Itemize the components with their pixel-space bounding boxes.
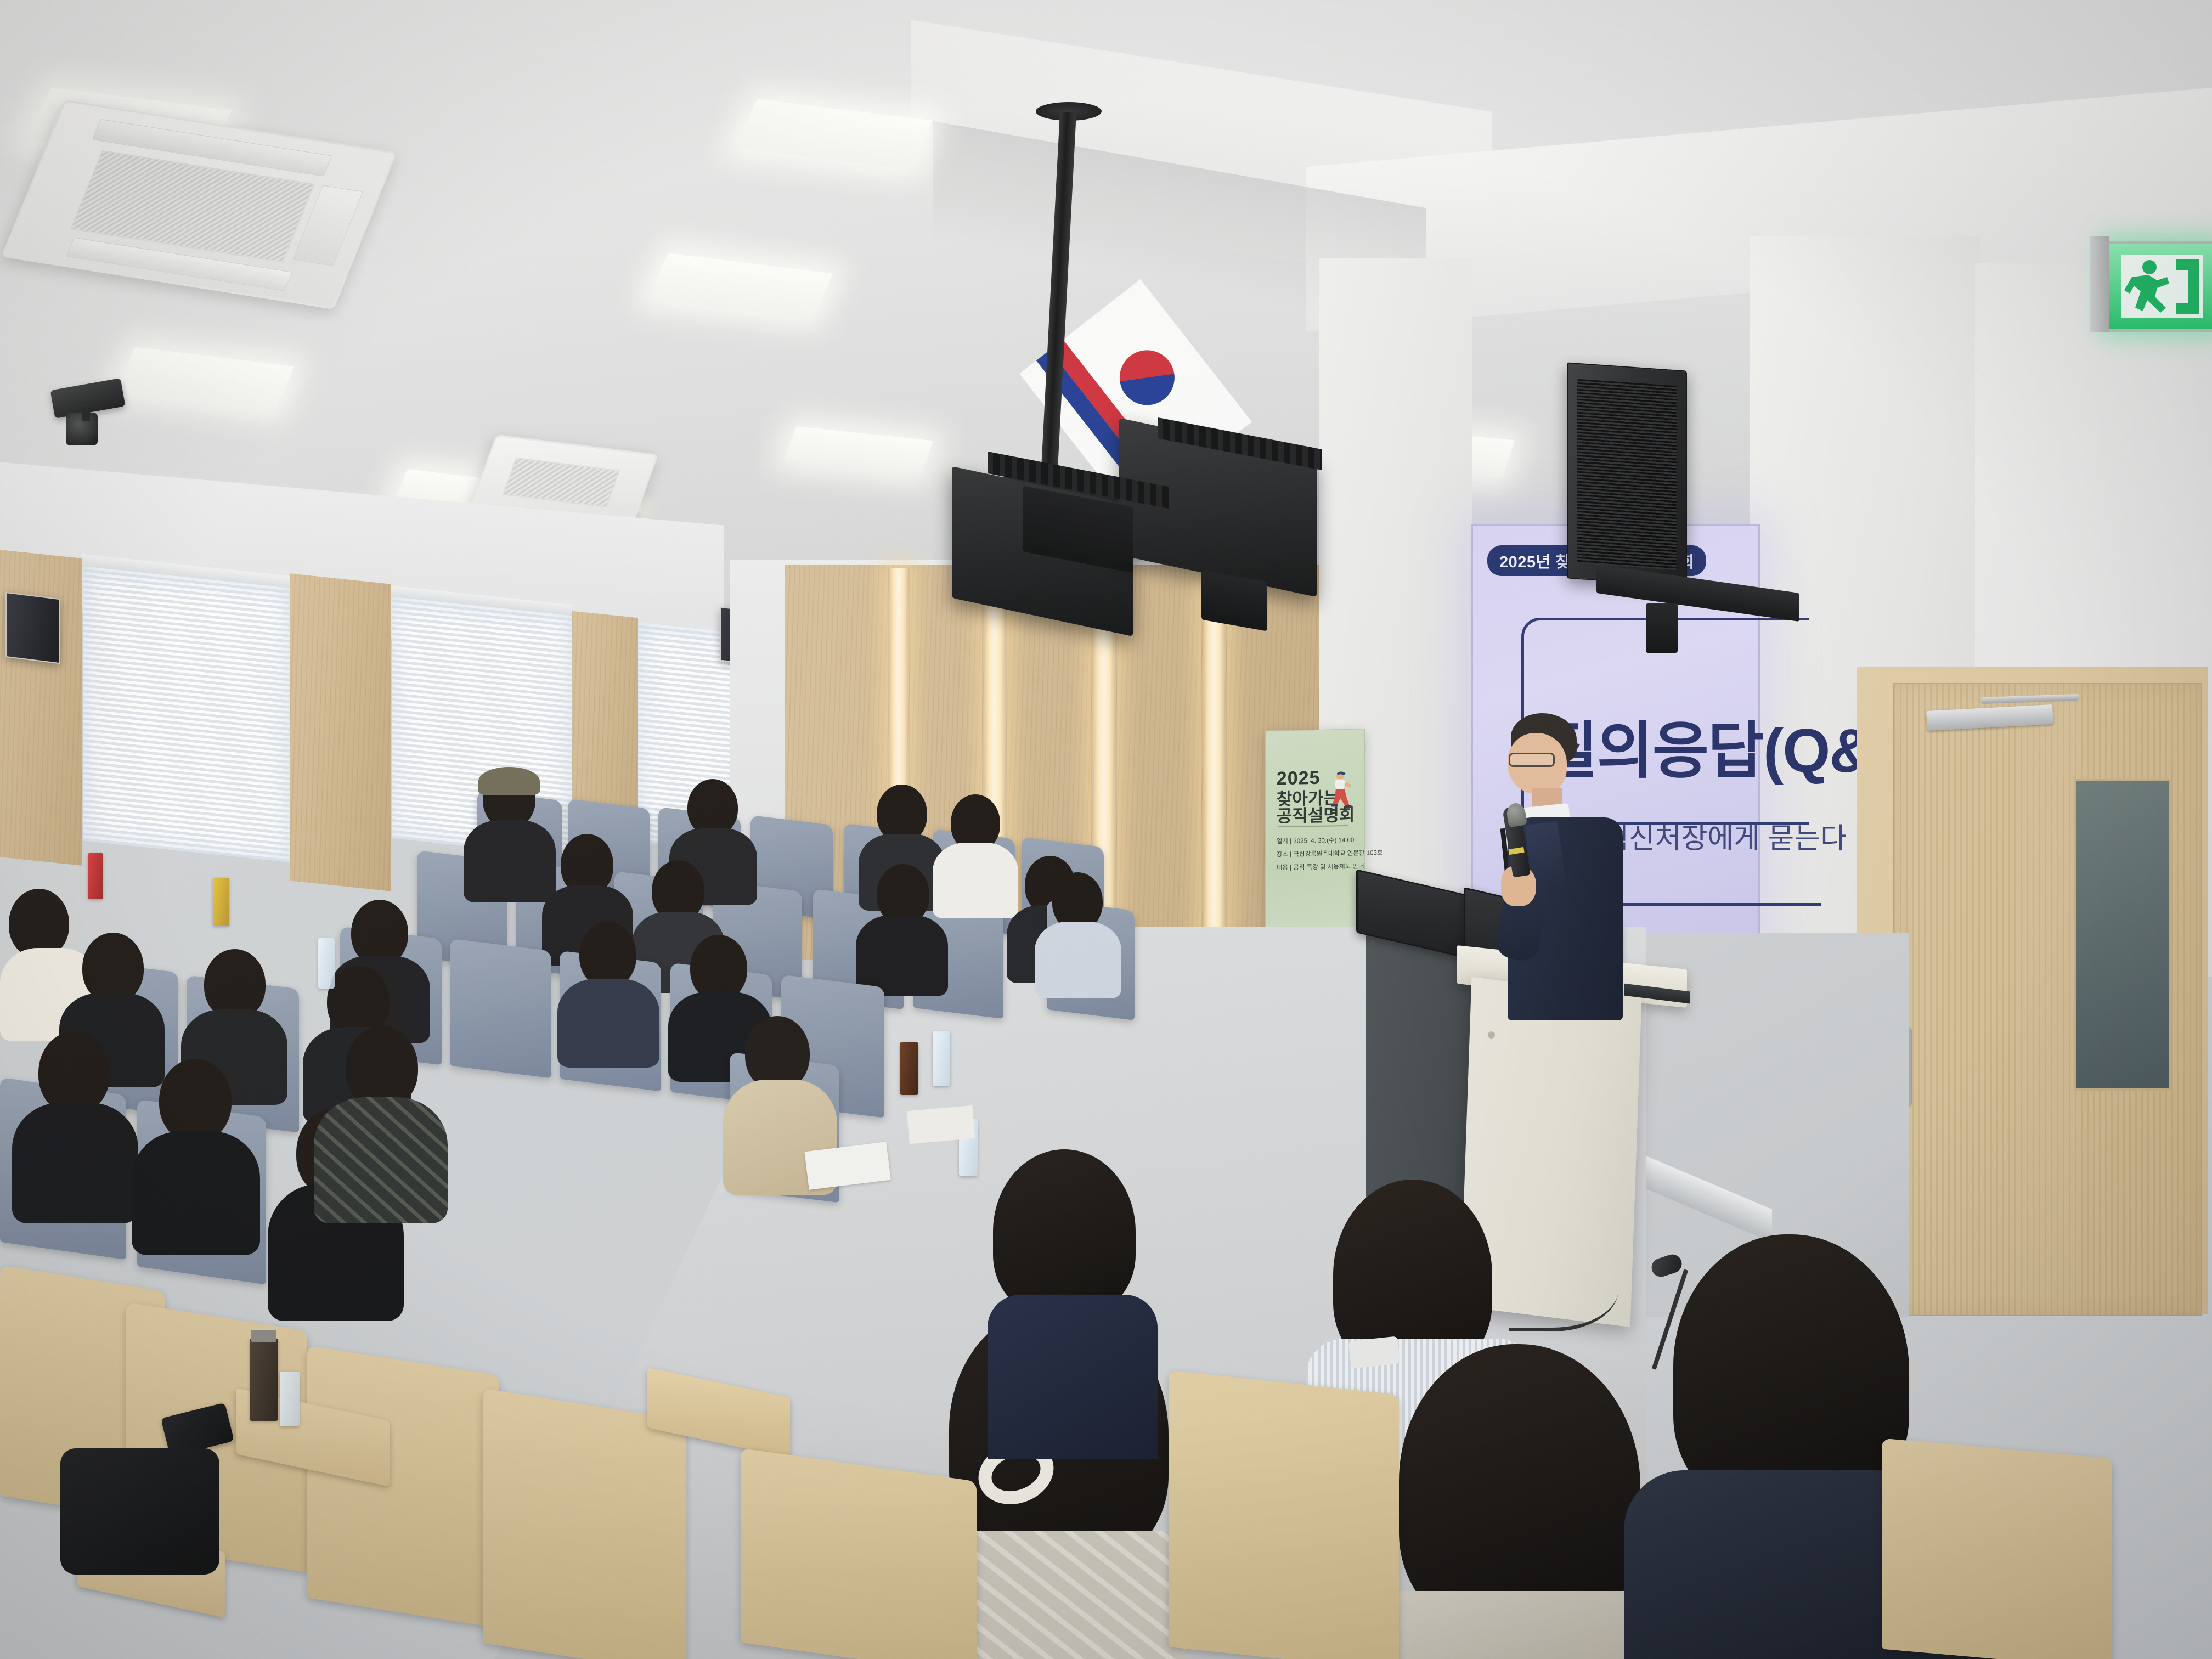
audience-head-foreground [1673, 1234, 1909, 1509]
presenter [1498, 713, 1640, 1020]
audience-head-foreground [1399, 1344, 1640, 1629]
ceiling-camera-stem [82, 407, 90, 421]
audience-torso [12, 1103, 138, 1223]
audience-torso-foreground [988, 1295, 1158, 1459]
audience-head-foreground [993, 1149, 1136, 1314]
audience-torso [464, 820, 556, 902]
speaker-rigging-clamp [1646, 603, 1678, 653]
water-bottle[interactable] [318, 938, 335, 989]
hanging-pa-speaker [1567, 362, 1687, 586]
drink-bottle[interactable] [88, 853, 103, 899]
presenter-glasses [1509, 753, 1555, 767]
banner-info-2: 내용 | 공직 특강 및 채용제도 안내 [1277, 862, 1364, 873]
seat-back[interactable] [450, 939, 551, 1079]
audience-torso [856, 915, 948, 996]
seat-back-wood[interactable] [1169, 1370, 1399, 1659]
audience-head [82, 933, 144, 1003]
running-person-icon [1324, 771, 1352, 810]
window-blinds[interactable] [83, 566, 290, 862]
audience-torso [1035, 922, 1121, 998]
ceiling-camera-lens-icon [66, 413, 98, 445]
seat-back-wood[interactable] [1882, 1438, 2112, 1659]
small-device[interactable] [1348, 1336, 1401, 1368]
seat-back-wood[interactable] [307, 1345, 499, 1628]
audience-head [204, 949, 266, 1019]
exit-sign-bracket [2090, 236, 2109, 332]
drink-bottle[interactable] [900, 1042, 918, 1095]
door-viewport-glass [2074, 779, 2171, 1091]
wall-led-strip [1201, 576, 1227, 960]
banner-info-1: 장소 | 국립강릉원주대학교 인문관 103호 [1277, 849, 1383, 860]
audience-head [159, 1059, 232, 1142]
lecture-hall-photo: 2025년 찾아가는 공직설명회 질의응답(Q&A) 인사혁신처장에게 묻는다 … [0, 0, 2212, 1659]
water-bottle[interactable] [933, 1031, 950, 1086]
microphone-head-icon [1505, 802, 1527, 828]
audience-torso [132, 1131, 260, 1255]
audience-torso [933, 843, 1018, 918]
banner-info-0: 일시 | 2025. 4. 30.(수) 14:00 [1277, 836, 1355, 847]
podium-screw [1488, 1031, 1495, 1039]
wall-speaker [5, 592, 60, 664]
bottle-cap [251, 1330, 276, 1342]
audience-torso [314, 1097, 448, 1223]
audience-cap-icon [478, 767, 540, 795]
drink-bottle[interactable] [250, 1339, 278, 1421]
seat-back-wood[interactable] [741, 1448, 977, 1659]
audience-head [579, 922, 636, 988]
audience-head [690, 935, 747, 1001]
water-bottle[interactable] [280, 1372, 300, 1426]
audience-torso [557, 979, 659, 1068]
drink-bottle[interactable] [213, 878, 229, 926]
handout-paper[interactable] [907, 1105, 975, 1144]
exit-sign [2106, 241, 2212, 332]
audience-torso-foreground [944, 1531, 1185, 1659]
audience-head [38, 1031, 110, 1114]
audience-head [687, 779, 738, 836]
wall-panel-wood [290, 573, 391, 891]
backpack [60, 1448, 219, 1575]
